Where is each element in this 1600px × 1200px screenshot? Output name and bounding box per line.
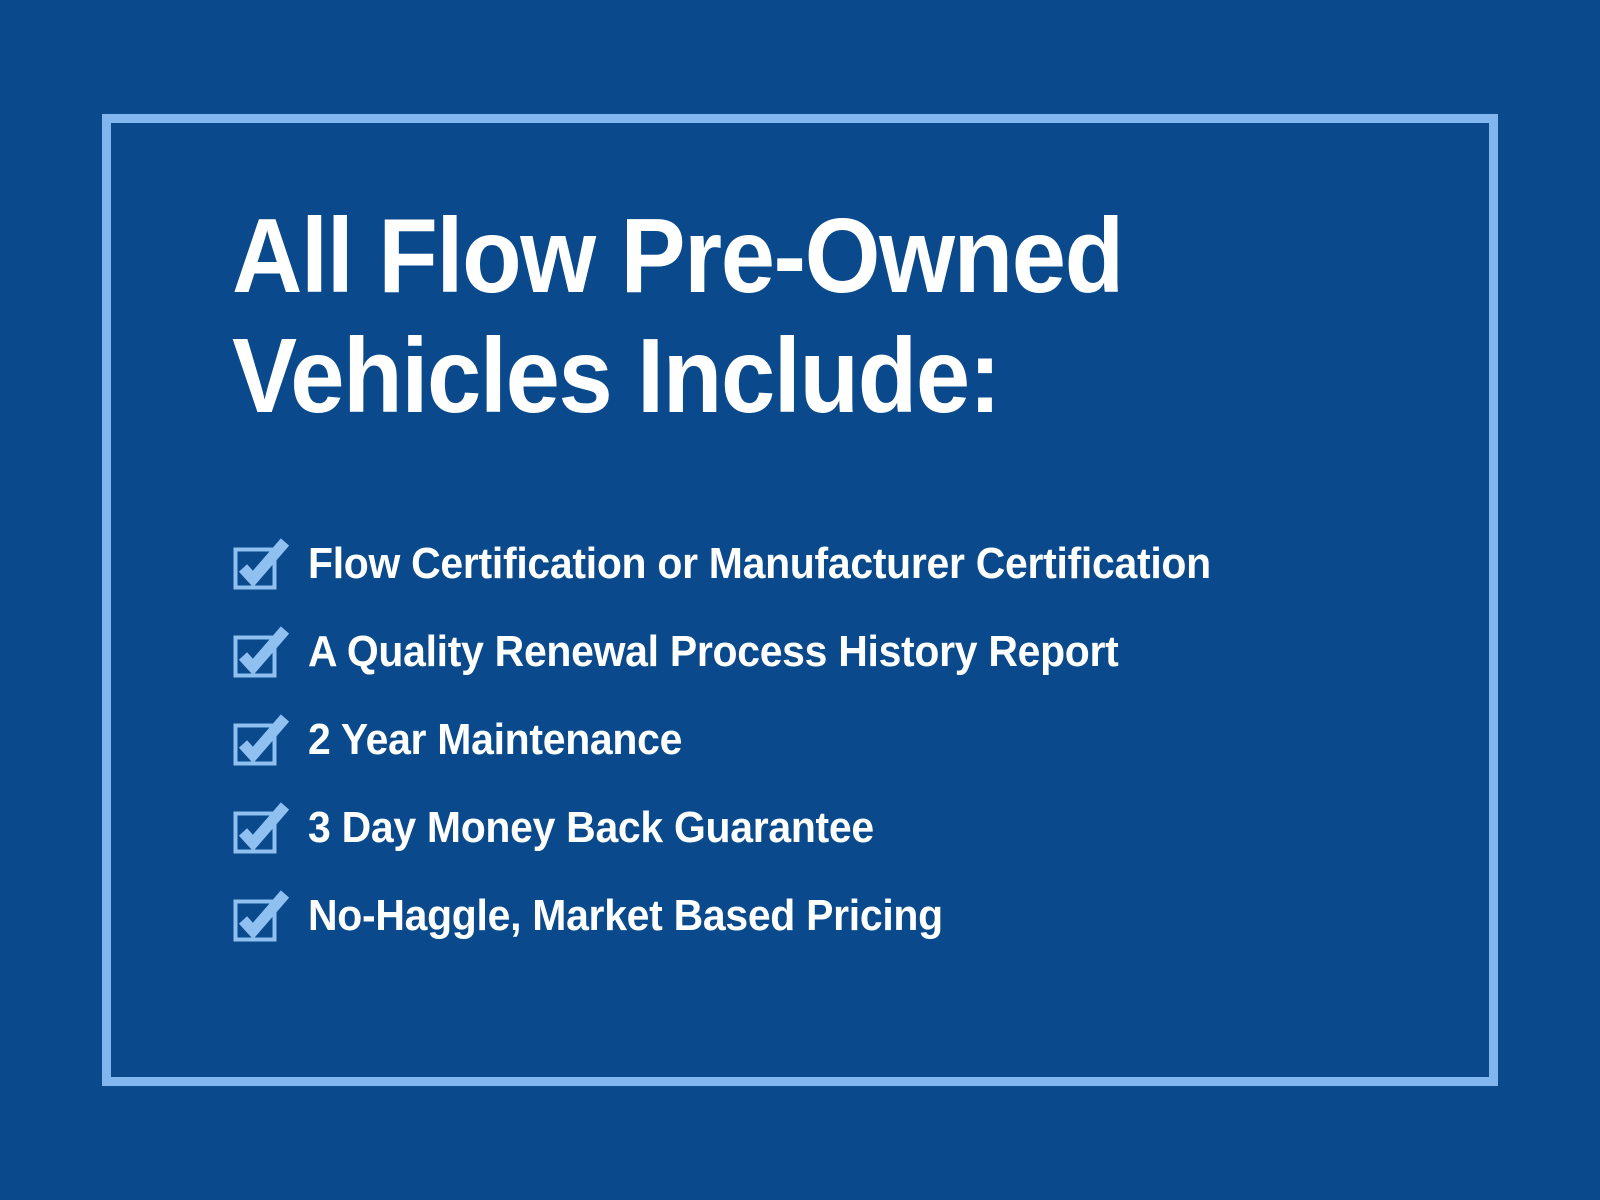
list-item-label: Flow Certification or Manufacturer Certi…: [308, 538, 1211, 590]
checkbox-checked-icon: [232, 538, 290, 590]
checkbox-checked-icon: [232, 626, 290, 678]
list-item: 3 Day Money Back Guarantee: [232, 784, 1432, 872]
list-item: Flow Certification or Manufacturer Certi…: [232, 520, 1432, 608]
checkbox-checked-icon: [232, 714, 290, 766]
promo-graphic: All Flow Pre-Owned Vehicles Include: Flo…: [0, 0, 1600, 1200]
list-item: 2 Year Maintenance: [232, 696, 1432, 784]
list-item-label: A Quality Renewal Process History Report: [308, 626, 1119, 678]
list-item: A Quality Renewal Process History Report: [232, 608, 1432, 696]
list-item: No-Haggle, Market Based Pricing: [232, 872, 1432, 960]
benefits-list: Flow Certification or Manufacturer Certi…: [232, 520, 1432, 960]
list-item-label: 2 Year Maintenance: [308, 714, 682, 766]
list-item-label: 3 Day Money Back Guarantee: [308, 802, 874, 854]
checkbox-checked-icon: [232, 802, 290, 854]
checkbox-checked-icon: [232, 890, 290, 942]
page-title: All Flow Pre-Owned Vehicles Include:: [232, 196, 1262, 436]
list-item-label: No-Haggle, Market Based Pricing: [308, 890, 943, 942]
